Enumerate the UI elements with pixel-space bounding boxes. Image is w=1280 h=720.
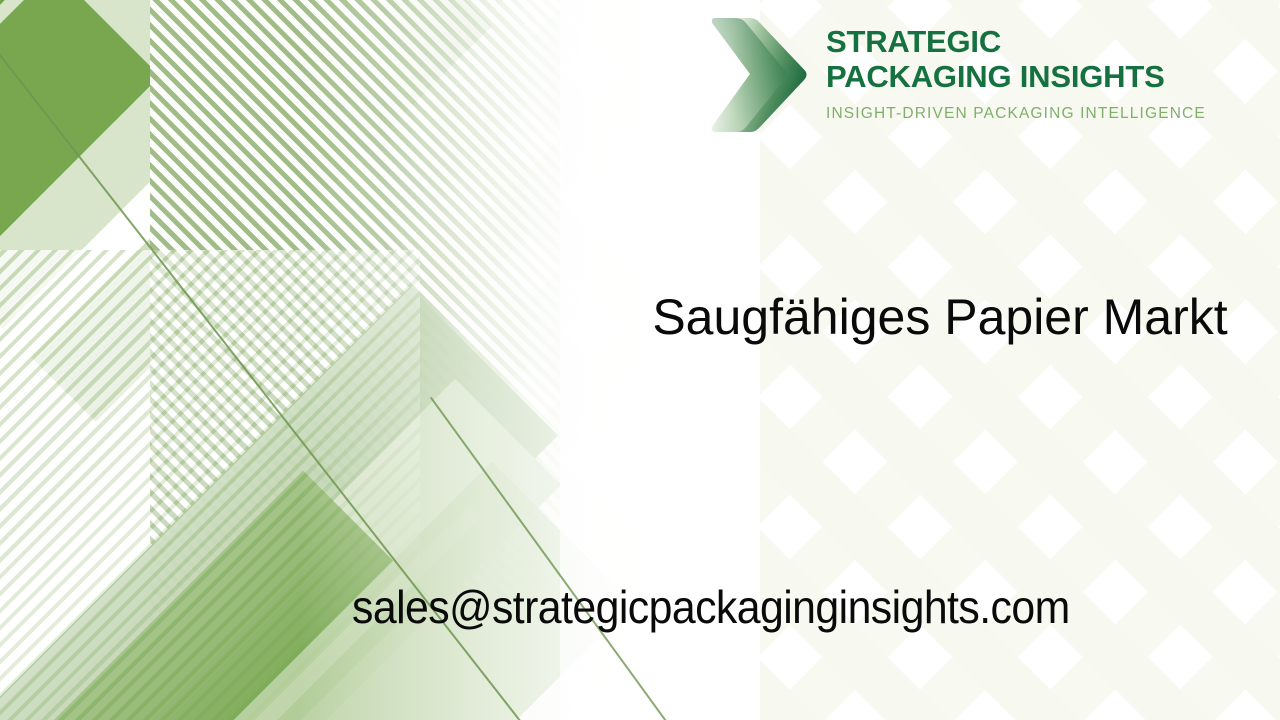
white-separator-band [0, 182, 178, 578]
green-band-top-left [0, 0, 160, 380]
logo-tagline: INSIGHT-DRIVEN PACKAGING INTELLIGENCE [826, 105, 1206, 123]
diagonal-stripes-lower [0, 250, 420, 720]
chevron-arrow-icon [706, 12, 810, 138]
deep-green-wedge-top-left [0, 0, 71, 131]
pale-sage-slab-secondary [0, 0, 466, 326]
sage-band-behind-email [0, 379, 561, 720]
logo-line-2: PACKAGING INSIGHTS [826, 59, 1206, 94]
diagonal-stripes-upper [150, 0, 580, 620]
white-sliver-one [0, 504, 292, 720]
contact-email[interactable]: sales@strategicpackaginginsights.com [352, 578, 1070, 636]
page-title: Saugfähiges Papier Markt [640, 289, 1240, 345]
logo-line-1: STRATEGIC [826, 24, 1206, 59]
logo-wordmark: STRATEGIC PACKAGING INSIGHTS INSIGHT-DRI… [826, 12, 1206, 123]
title-slide: STRATEGIC PACKAGING INSIGHTS INSIGHT-DRI… [0, 0, 1280, 720]
sage-band-middle [0, 287, 558, 720]
pale-sage-slab [0, 0, 492, 422]
company-logo: STRATEGIC PACKAGING INSIGHTS INSIGHT-DRI… [706, 12, 1206, 138]
hairline-diagonal-lower [430, 397, 708, 720]
